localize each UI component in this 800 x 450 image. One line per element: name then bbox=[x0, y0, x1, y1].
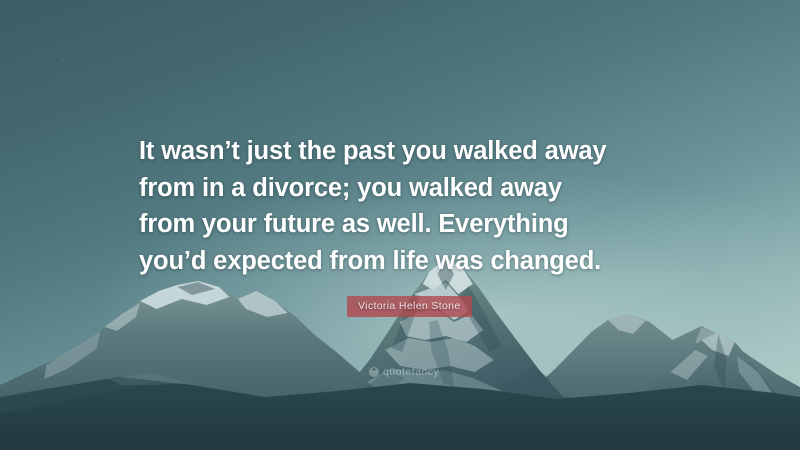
quotefancy-logo-icon: ❞ bbox=[369, 367, 379, 377]
quote-poster: It wasn’t just the past you walked away … bbox=[0, 0, 800, 450]
author-name-badge[interactable]: Victoria Helen Stone bbox=[347, 296, 472, 317]
quotefancy-brand-label: quotefancy bbox=[383, 366, 439, 378]
quote-line: It wasn’t just the past you walked away bbox=[139, 133, 684, 170]
quote-text: It wasn’t just the past you walked away … bbox=[139, 133, 684, 279]
quote-line: from your future as well. Everything bbox=[139, 206, 684, 243]
quotefancy-watermark[interactable]: ❞ quotefancy bbox=[369, 366, 439, 378]
quote-line: you’d expected from life was changed. bbox=[139, 243, 684, 280]
quote-line: from in a divorce; you walked away bbox=[139, 170, 684, 207]
